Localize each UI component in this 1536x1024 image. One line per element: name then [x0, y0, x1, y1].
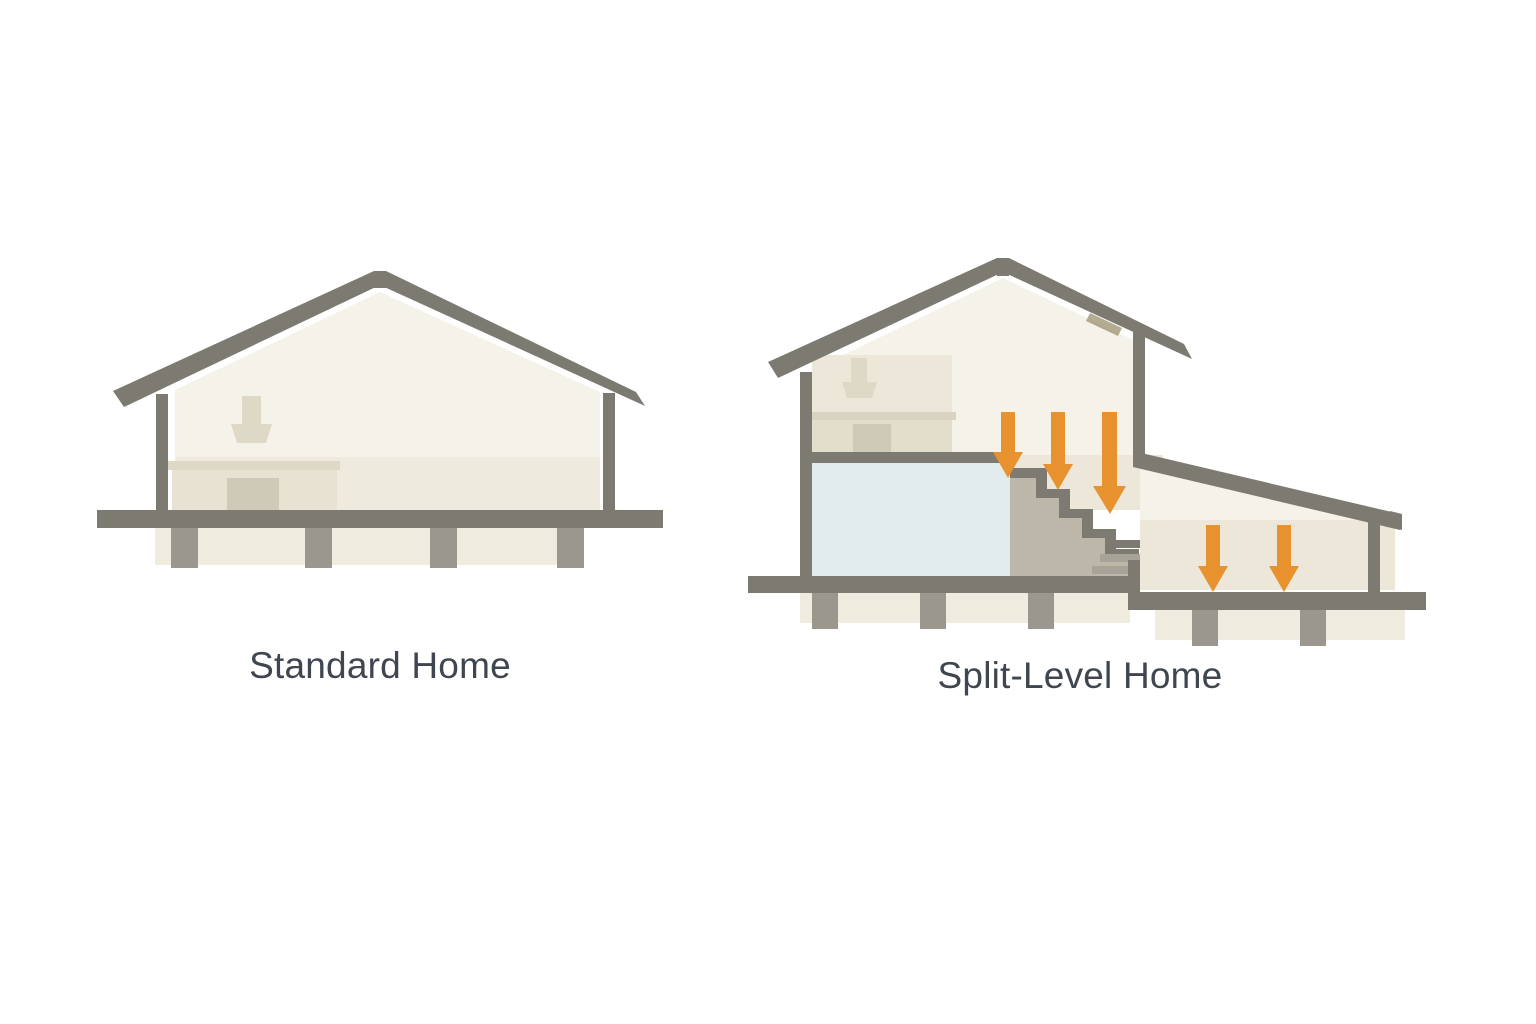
- split-garage-room: [812, 460, 1007, 578]
- split-garage-ceiling: [800, 452, 1010, 463]
- standard-pier-3: [430, 528, 457, 568]
- split-counter-top: [808, 412, 956, 420]
- standard-pier-1: [171, 528, 198, 568]
- standard-left-wall: [156, 394, 168, 513]
- split-roof-peak: [997, 258, 1009, 276]
- standard-right-wall: [603, 393, 615, 513]
- standard-counter-top: [168, 461, 340, 470]
- split-right-floor-slab: [1128, 592, 1426, 610]
- standard-roof-peak: [374, 271, 386, 288]
- split-pier-3: [1028, 593, 1054, 629]
- split-pier-4: [1192, 610, 1218, 646]
- split-pier-5: [1300, 610, 1326, 646]
- standard-pier-4: [557, 528, 584, 568]
- house-comparison-illustration: [0, 0, 1536, 1024]
- standard-pier-2: [305, 528, 332, 568]
- split-upper-left-wall: [800, 372, 812, 580]
- caption-standard-home: Standard Home: [180, 645, 580, 687]
- split-pier-1: [812, 593, 838, 629]
- diagram-canvas: Standard Home Split-Level Home: [0, 0, 1536, 1024]
- split-level-home-diagram: [748, 258, 1426, 646]
- split-pier-2: [920, 593, 946, 629]
- split-right-end-wall: [1368, 513, 1380, 598]
- split-right-wing-band: [1140, 520, 1395, 590]
- standard-home-diagram: [97, 271, 663, 568]
- split-sloped-roof-eave: [1390, 511, 1402, 530]
- split-lower-tread-1: [1108, 540, 1140, 548]
- standard-floor-slab: [97, 510, 663, 528]
- split-left-floor-slab: [748, 576, 1140, 593]
- split-cabinet: [853, 424, 891, 454]
- caption-split-level-home: Split-Level Home: [880, 655, 1280, 697]
- standard-cabinet: [227, 478, 279, 513]
- split-upper-right-wall: [1133, 330, 1145, 460]
